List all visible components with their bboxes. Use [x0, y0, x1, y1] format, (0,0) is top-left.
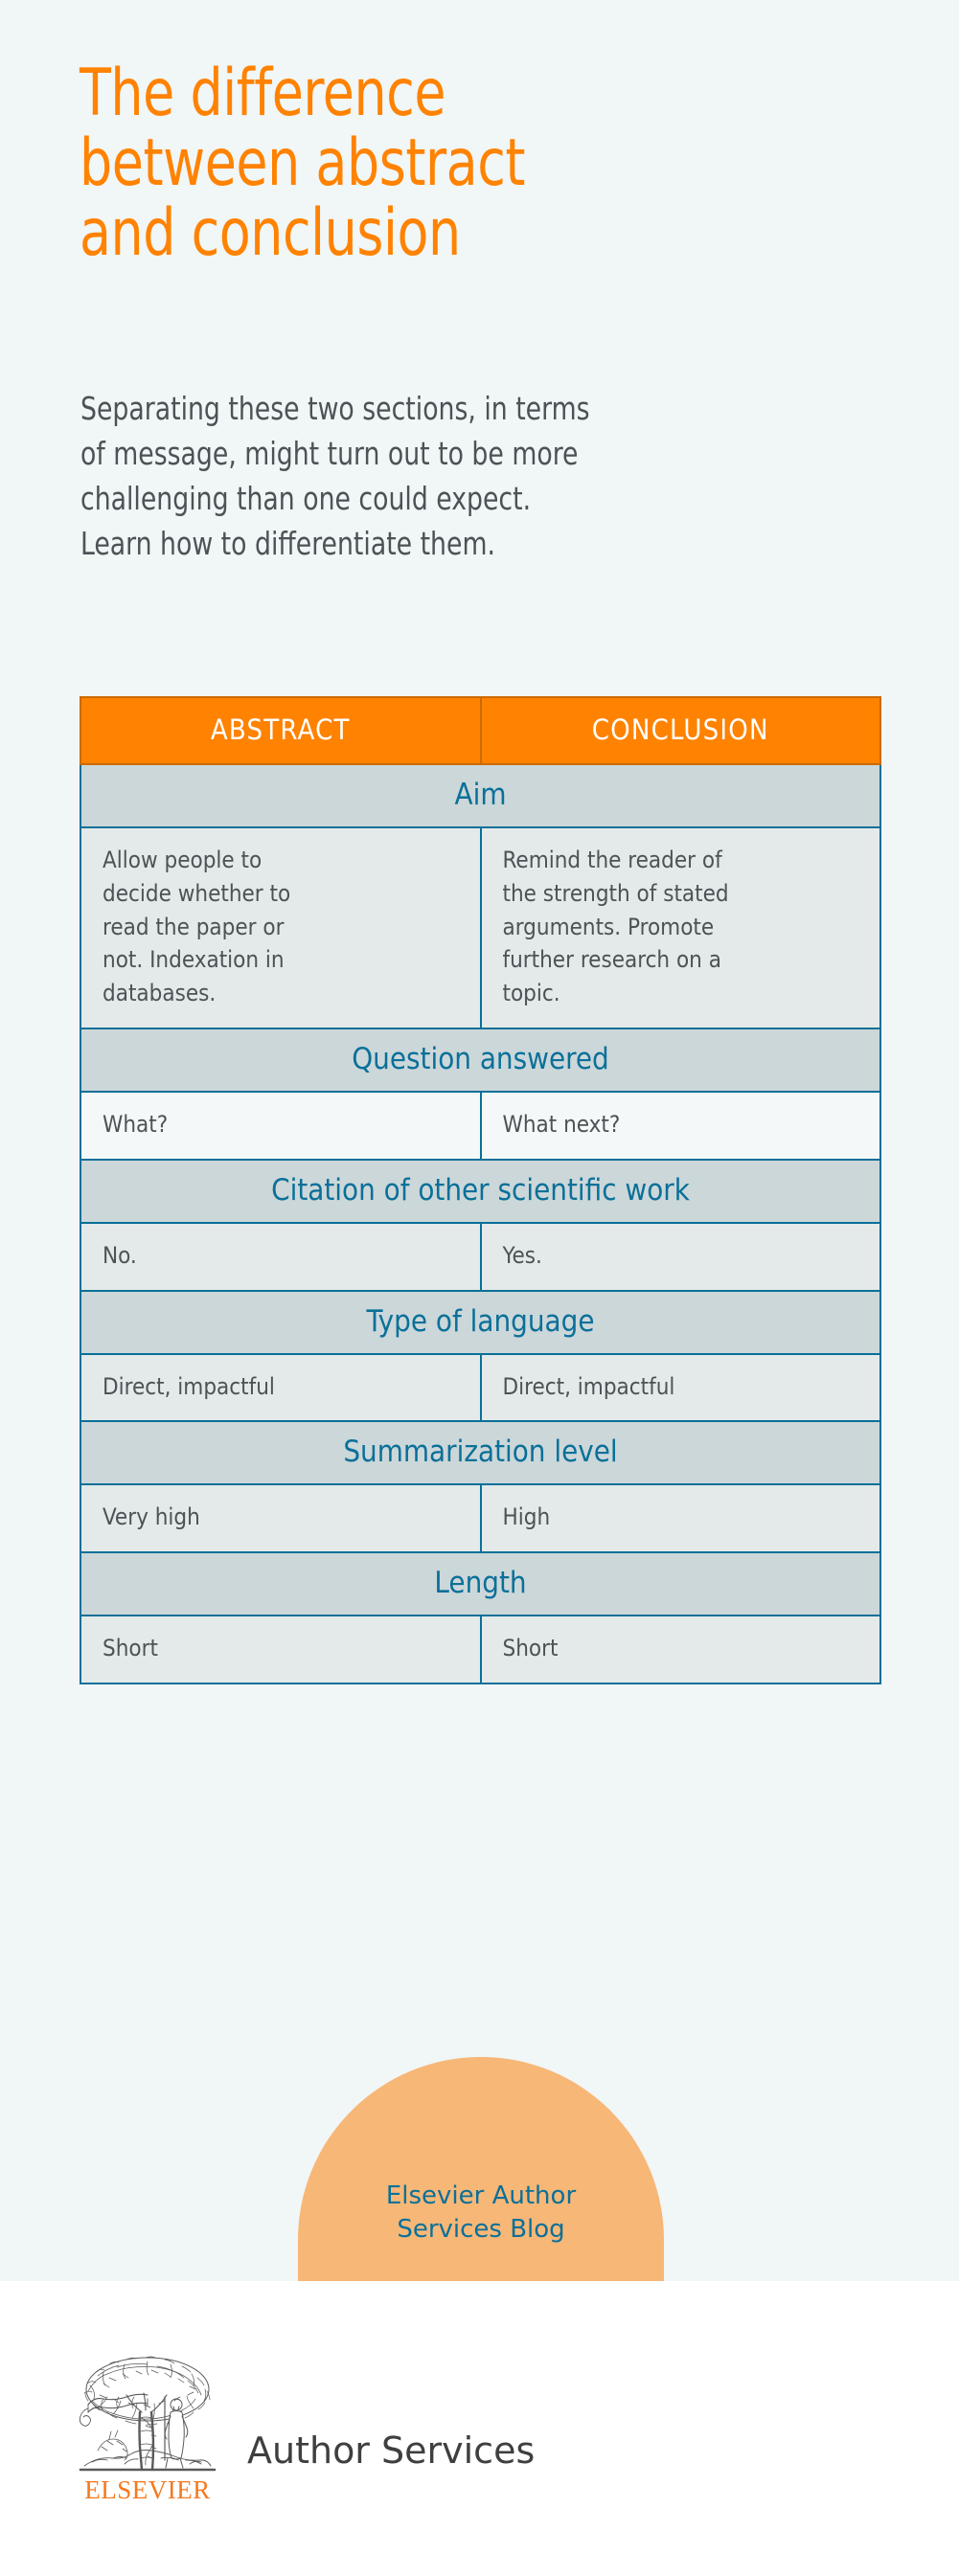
cell-aim-conclusion: Remind the reader of the strength of sta…	[481, 827, 881, 1028]
elsevier-logo: ELSEVIER	[75, 2351, 220, 2505]
cell-citation-conclusion: Yes.	[481, 1223, 881, 1291]
cell-length-abstract: Short	[80, 1616, 481, 1683]
table-row: Very high High	[80, 1484, 880, 1552]
page-subtitle: Separating these two sections, in terms …	[80, 387, 805, 566]
cell-aim-abstract: Allow people to decide whether to read t…	[80, 827, 481, 1028]
table-row: No. Yes.	[80, 1223, 880, 1291]
section-label-citation: Citation of other scientific work	[80, 1160, 880, 1223]
section-label-question-answered: Question answered	[80, 1028, 880, 1092]
page-title: The difference between abstract and conc…	[80, 59, 771, 268]
section-header-row: Question answered	[80, 1028, 880, 1092]
elsevier-tree-icon	[75, 2351, 220, 2474]
section-header-row: Type of language	[80, 1291, 880, 1354]
cell-citation-abstract: No.	[80, 1223, 481, 1291]
footer: ELSEVIER Author Services	[0, 2281, 959, 2576]
column-header-abstract: ABSTRACT	[80, 697, 481, 764]
infographic-canvas: The difference between abstract and conc…	[0, 0, 959, 2281]
blog-badge[interactable]: Elsevier Author Services Blog	[298, 2057, 664, 2281]
table-row: Allow people to decide whether to read t…	[80, 827, 880, 1028]
section-header-row: Summarization level	[80, 1421, 880, 1484]
section-label-summarization-level: Summarization level	[80, 1421, 880, 1484]
cell-question-abstract: What?	[80, 1092, 481, 1160]
section-label-type-of-language: Type of language	[80, 1291, 880, 1354]
table-row: Short Short	[80, 1616, 880, 1683]
section-label-length: Length	[80, 1552, 880, 1616]
comparison-table: ABSTRACT CONCLUSION Aim Allow people to …	[80, 696, 881, 1684]
comparison-table-body: ABSTRACT CONCLUSION Aim Allow people to …	[80, 697, 880, 1683]
cell-summarization-abstract: Very high	[80, 1484, 481, 1552]
elsevier-wordmark: ELSEVIER	[75, 2475, 220, 2505]
section-header-row: Aim	[80, 764, 880, 827]
section-header-row: Length	[80, 1552, 880, 1616]
table-header-row: ABSTRACT CONCLUSION	[80, 697, 880, 764]
footer-title: Author Services	[247, 2429, 535, 2472]
cell-language-conclusion: Direct, impactful	[481, 1354, 881, 1422]
cell-length-conclusion: Short	[481, 1616, 881, 1683]
section-label-aim: Aim	[80, 764, 880, 827]
table-row: Direct, impactful Direct, impactful	[80, 1354, 880, 1422]
cell-summarization-conclusion: High	[481, 1484, 881, 1552]
table-row: What? What next?	[80, 1092, 880, 1160]
column-header-conclusion: CONCLUSION	[481, 697, 881, 764]
cell-language-abstract: Direct, impactful	[80, 1354, 481, 1422]
blog-badge-label: Elsevier Author Services Blog	[298, 2180, 664, 2246]
section-header-row: Citation of other scientific work	[80, 1160, 880, 1223]
cell-question-conclusion: What next?	[481, 1092, 881, 1160]
